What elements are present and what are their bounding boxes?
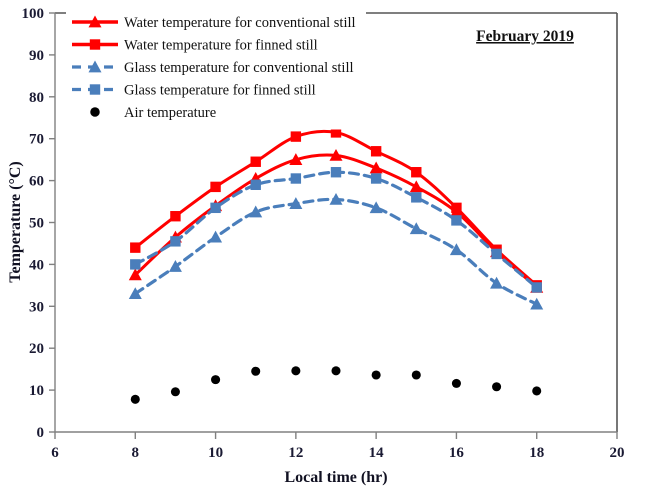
y-tick-label: 20	[29, 341, 44, 357]
y-tick-label: 10	[29, 383, 44, 399]
x-tick-label: 16	[449, 445, 465, 461]
legend-label: Air temperature	[124, 105, 216, 121]
x-tick-label: 6	[51, 445, 59, 461]
temperature-chart: 0102030405060708090100 68101214161820 Te…	[0, 0, 650, 493]
x-tick-label: 8	[132, 445, 140, 461]
x-tick-label: 14	[369, 445, 385, 461]
data-point-square	[331, 167, 341, 177]
data-point-square	[411, 167, 421, 177]
data-point-square	[291, 173, 301, 183]
chart-canvas: 0102030405060708090100 68101214161820 Te…	[0, 0, 650, 493]
legend-label: Water temperature for finned still	[124, 38, 318, 54]
x-tick-label: 20	[610, 445, 625, 461]
series-2	[129, 193, 543, 310]
y-axis-ticks: 0102030405060708090100	[22, 6, 56, 441]
series-3	[130, 167, 542, 293]
data-point-square	[411, 192, 421, 202]
data-point-square	[291, 131, 301, 141]
data-point-square	[130, 259, 140, 269]
data-point-square	[451, 203, 461, 213]
y-tick-label: 60	[29, 174, 44, 190]
data-point-circle	[291, 366, 300, 375]
series-4	[131, 366, 542, 404]
chart-legend: Water temperature for conventional still…	[66, 11, 366, 130]
legend-label: Glass temperature for conventional still	[124, 60, 354, 76]
y-tick-label: 0	[37, 425, 45, 441]
x-tick-label: 10	[208, 445, 223, 461]
data-point-triangle	[410, 222, 423, 234]
date-annotation: February 2019	[476, 28, 574, 45]
data-point-square	[491, 249, 501, 259]
data-point-square	[251, 180, 261, 190]
x-axis-ticks: 68101214161820	[51, 432, 624, 461]
x-axis-title: Local time (hr)	[284, 469, 387, 486]
data-point-circle	[492, 382, 501, 391]
data-point-triangle	[410, 180, 423, 192]
data-point-circle	[372, 370, 381, 379]
data-point-square	[371, 173, 381, 183]
data-point-square	[90, 84, 100, 94]
y-tick-label: 100	[22, 6, 45, 22]
data-point-circle	[90, 107, 100, 117]
legend-label: Water temperature for conventional still	[124, 15, 356, 31]
data-point-circle	[251, 367, 260, 376]
data-point-circle	[131, 395, 140, 404]
data-point-square	[251, 157, 261, 167]
y-tick-label: 90	[29, 48, 44, 64]
data-point-square	[170, 211, 180, 221]
y-tick-label: 50	[29, 216, 44, 232]
y-axis-title: Temperature (°C)	[7, 161, 24, 282]
y-tick-label: 70	[29, 132, 44, 148]
data-point-square	[90, 39, 100, 49]
data-point-circle	[331, 366, 340, 375]
y-tick-label: 40	[29, 257, 44, 273]
data-point-square	[130, 242, 140, 252]
y-tick-label: 30	[29, 299, 44, 315]
x-tick-label: 12	[288, 445, 303, 461]
series-line	[135, 199, 536, 304]
series-layer	[129, 127, 543, 404]
data-point-square	[170, 236, 180, 246]
data-point-circle	[211, 375, 220, 384]
data-point-square	[210, 182, 220, 192]
data-point-square	[532, 282, 542, 292]
data-point-circle	[452, 379, 461, 388]
y-tick-label: 80	[29, 90, 44, 106]
data-point-square	[451, 215, 461, 225]
data-point-square	[371, 146, 381, 156]
data-point-square	[210, 203, 220, 213]
x-tick-label: 18	[529, 445, 544, 461]
data-point-circle	[532, 386, 541, 395]
legend-label: Glass temperature for finned still	[124, 83, 316, 99]
data-point-circle	[412, 370, 421, 379]
data-point-circle	[171, 387, 180, 396]
